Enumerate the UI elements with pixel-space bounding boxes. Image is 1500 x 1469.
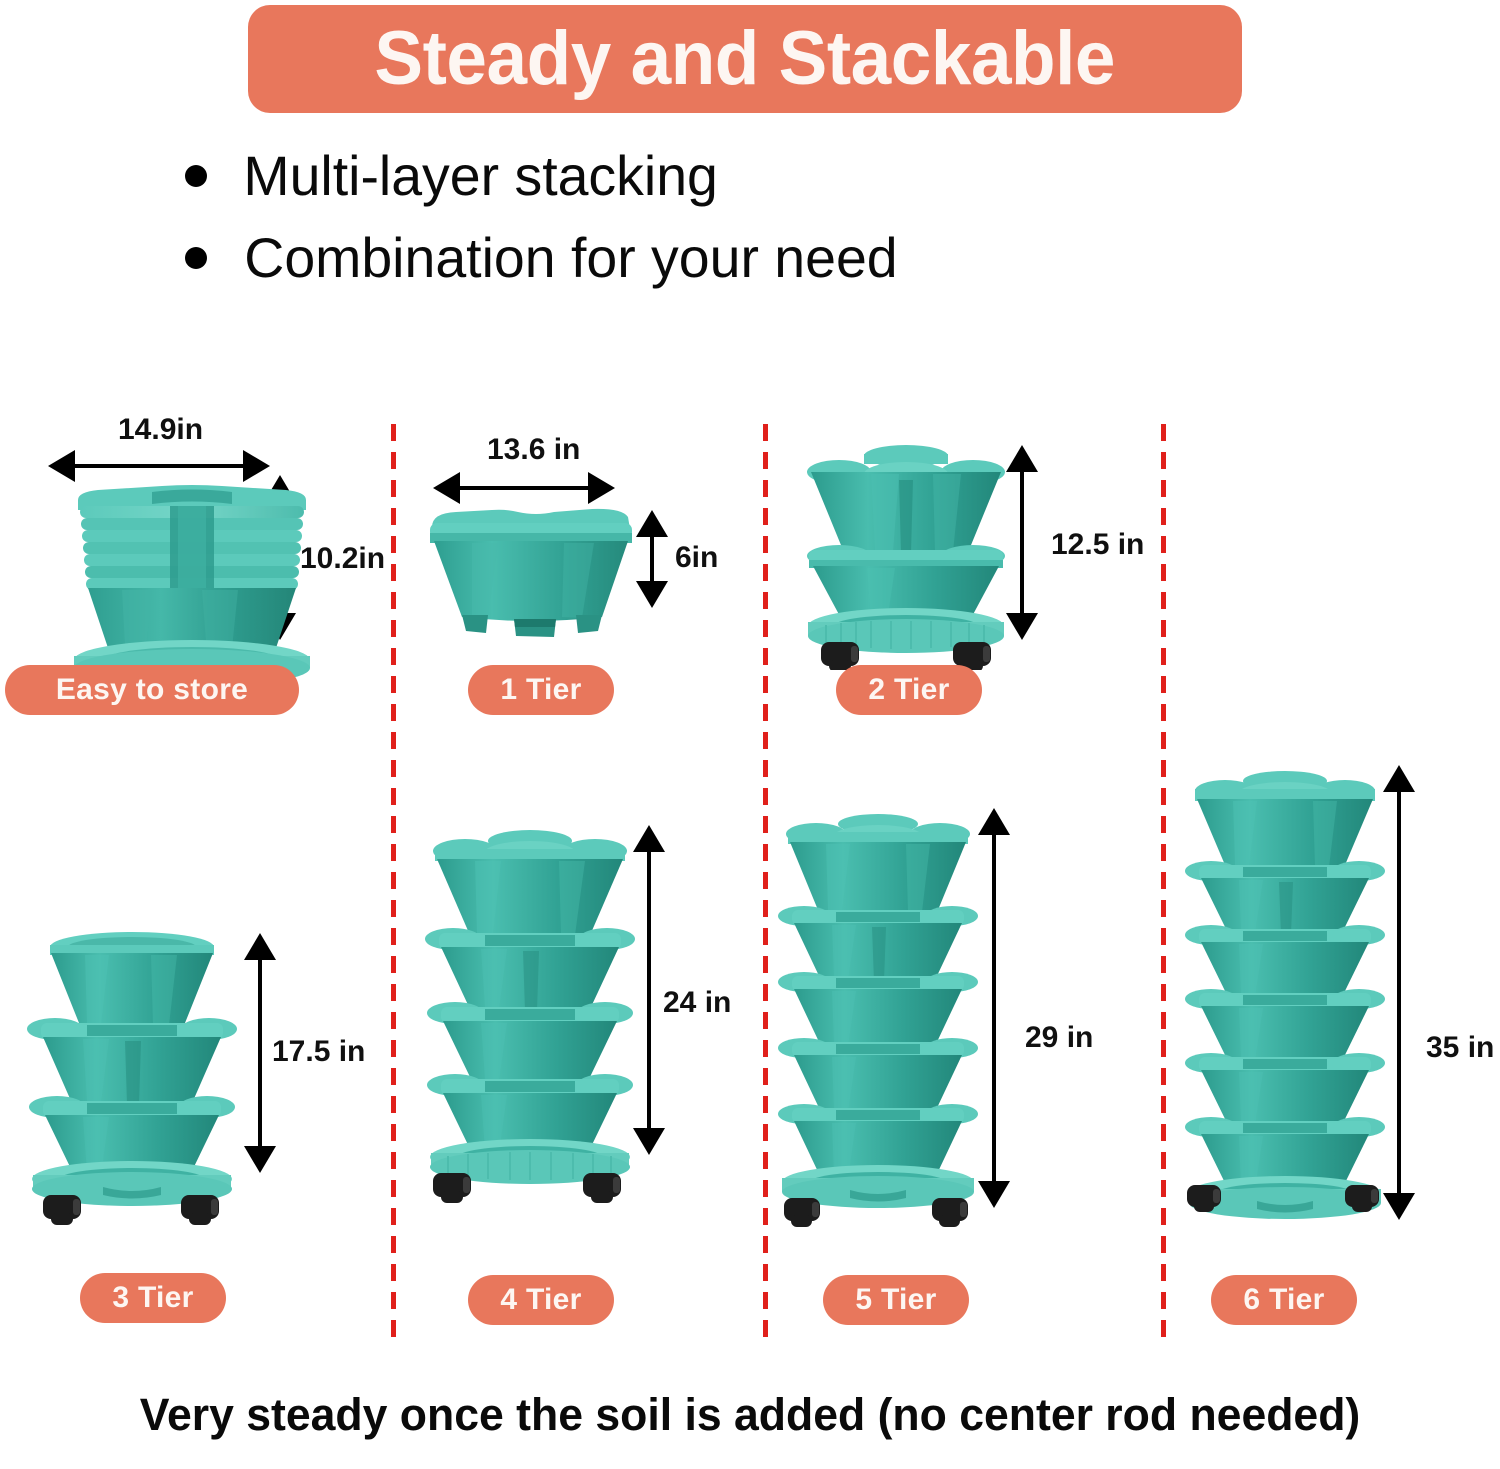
- height-dimension-label: 17.5 in: [272, 1037, 365, 1067]
- arrow-head-down-icon: [1383, 1193, 1415, 1220]
- height-dimension-label: 24 in: [663, 988, 731, 1018]
- height-dimension-label: 35 in: [1426, 1033, 1494, 1063]
- arrow-bar: [647, 839, 651, 1141]
- height-dimension-arrow: [978, 808, 1010, 1208]
- product-cell-2-tier: 12.5 in: [763, 410, 1161, 730]
- product-label-badge: Easy to store: [5, 665, 299, 715]
- product-label-badge: 3 Tier: [80, 1273, 226, 1323]
- product-cell-3-tier: 17.5 in: [0, 900, 391, 1340]
- product-label-badge: 2 Tier: [836, 665, 982, 715]
- product-label-badge: 1 Tier: [468, 665, 614, 715]
- infographic-root: Steady and Stackable Multi-layer stackin…: [0, 0, 1500, 1469]
- arrow-bar: [258, 947, 262, 1159]
- bullet-label: Combination for your need: [244, 230, 897, 286]
- product-cell-6-tier: 35 in: [1161, 755, 1500, 1340]
- planter-illustration-2-tier: [801, 440, 1011, 670]
- width-dimension-arrow: [433, 472, 615, 504]
- arrow-head-down-icon: [978, 1181, 1010, 1208]
- product-cell-5-tier: 29 in: [763, 780, 1161, 1340]
- list-item: Multi-layer stacking: [185, 135, 1185, 217]
- planter-illustration-5-tier: [778, 810, 978, 1250]
- arrow-head-down-icon: [244, 1146, 276, 1173]
- arrow-bar: [992, 822, 996, 1194]
- page-title: Steady and Stackable: [375, 21, 1116, 97]
- feature-bullet-list: Multi-layer stacking Combination for you…: [185, 135, 1185, 299]
- planter-illustration-6-tier: [1185, 767, 1385, 1257]
- arrow-bar: [447, 486, 601, 490]
- planter-illustration-4-tier: [423, 825, 638, 1215]
- arrow-bar: [62, 464, 256, 468]
- height-dimension-label: 6in: [675, 543, 718, 573]
- footer-caption: Very steady once the soil is added (no c…: [8, 1392, 1493, 1437]
- arrow-bar: [1397, 779, 1401, 1206]
- planter-illustration-1-tier: [426, 505, 646, 645]
- product-label-badge: 5 Tier: [823, 1275, 969, 1325]
- product-cell-4-tier: 24 in: [391, 790, 763, 1340]
- planter-illustration-3-tier: [25, 925, 240, 1235]
- width-dimension-label: 13.6 in: [487, 435, 580, 465]
- list-item: Combination for your need: [185, 217, 1185, 299]
- height-dimension-label: 12.5 in: [1051, 530, 1144, 560]
- bullet-label: Multi-layer stacking: [243, 148, 717, 204]
- arrow-head-right-icon: [588, 472, 615, 504]
- product-label-badge: 4 Tier: [468, 1275, 614, 1325]
- height-dimension-arrow: [1383, 765, 1415, 1220]
- product-label-badge: 6 Tier: [1211, 1275, 1357, 1325]
- height-dimension-label: 29 in: [1025, 1023, 1093, 1053]
- title-badge: Steady and Stackable: [248, 5, 1242, 113]
- bullet-dot-icon: [185, 247, 207, 269]
- bullet-dot-icon: [185, 165, 207, 187]
- width-dimension-label: 14.9in: [118, 415, 203, 445]
- arrow-bar: [1020, 459, 1024, 626]
- product-cell-1-tier: 13.6 in 6in: [391, 410, 763, 730]
- product-cell-easy-to-store: 14.9in 10.2in: [0, 410, 391, 730]
